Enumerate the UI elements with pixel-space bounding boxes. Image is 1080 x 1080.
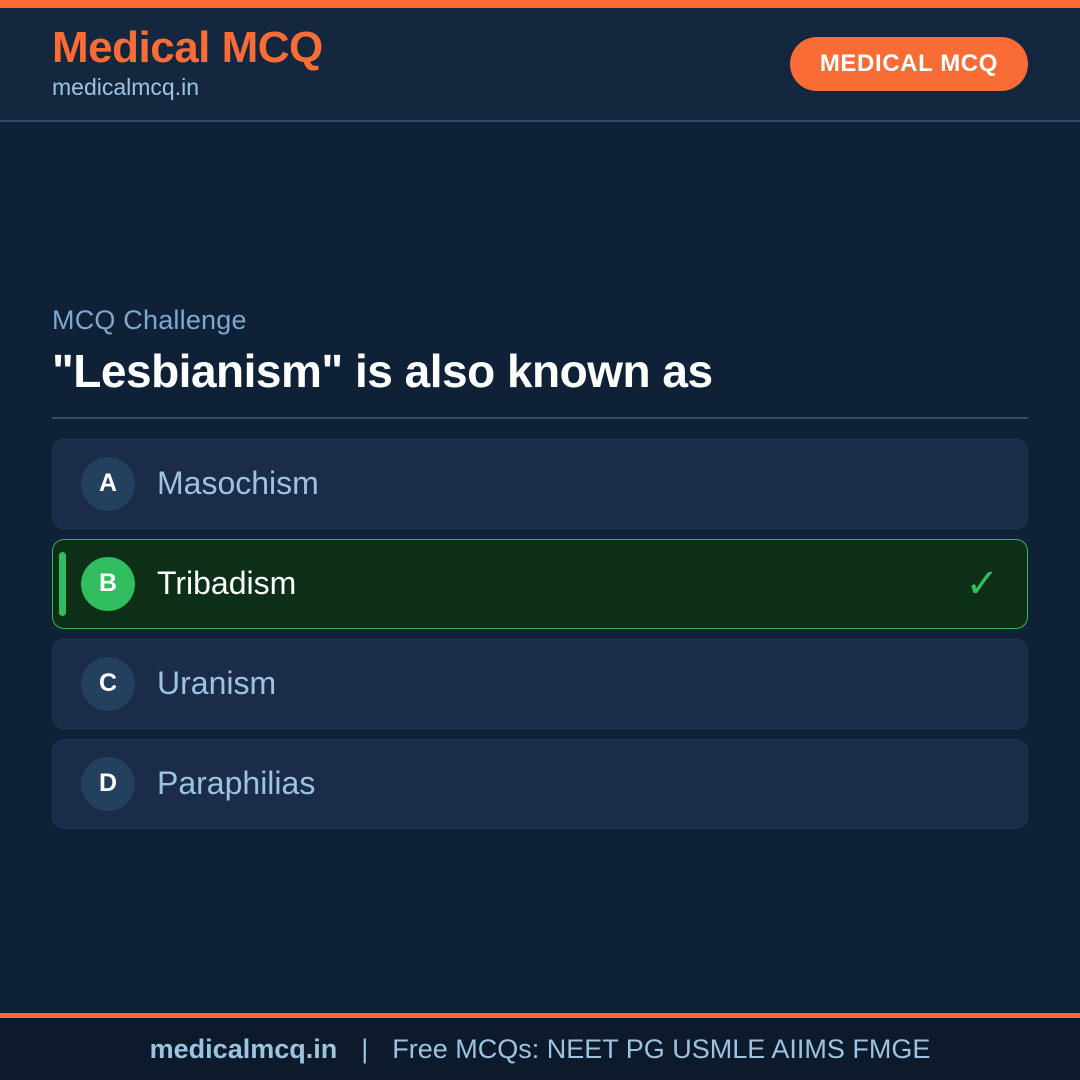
option-label: Masochism [157, 466, 983, 501]
brand-subtitle: medicalmcq.in [52, 73, 323, 103]
option-label: Uranism [157, 666, 983, 701]
brand-title: Medical MCQ [52, 25, 323, 71]
option-c[interactable]: C Uranism [52, 639, 1028, 729]
option-d[interactable]: D Paraphilias [52, 739, 1028, 829]
page-header: Medical MCQ medicalmcq.in MEDICAL MCQ [0, 8, 1080, 122]
header-badge[interactable]: MEDICAL MCQ [790, 37, 1028, 91]
page-footer: medicalmcq.in | Free MCQs: NEET PG USMLE… [0, 1018, 1080, 1080]
option-letter-badge: D [81, 757, 135, 811]
option-b[interactable]: B Tribadism ✓ [52, 539, 1028, 629]
footer-separator: | [351, 1034, 378, 1065]
footer-site-link[interactable]: medicalmcq.in [150, 1034, 338, 1065]
correct-accent-bar [59, 552, 66, 616]
brand-block: Medical MCQ medicalmcq.in [52, 25, 323, 103]
eyebrow-label: MCQ Challenge [52, 305, 1028, 336]
top-accent-bar [0, 0, 1080, 8]
question-text: "Lesbianism" is also known as [52, 344, 1028, 398]
option-letter-badge: B [81, 557, 135, 611]
option-a[interactable]: A Masochism [52, 439, 1028, 529]
options-list: A Masochism B Tribadism ✓ C Uranism D Pa… [52, 439, 1028, 829]
footer-exam-tags: Free MCQs: NEET PG USMLE AIIMS FMGE [392, 1034, 930, 1065]
check-icon: ✓ [965, 564, 999, 604]
question-divider [52, 417, 1028, 419]
option-label: Paraphilias [157, 766, 983, 801]
option-letter-badge: A [81, 457, 135, 511]
main-content: MCQ Challenge "Lesbianism" is also known… [0, 124, 1080, 1010]
option-letter-badge: C [81, 657, 135, 711]
option-label: Tribadism [157, 566, 949, 601]
